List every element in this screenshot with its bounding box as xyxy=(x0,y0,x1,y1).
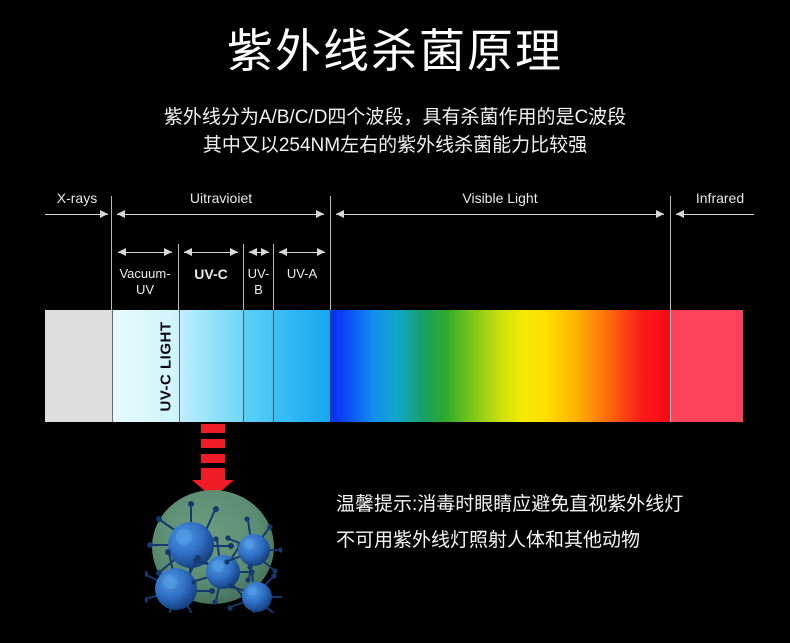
sub-band-line-1: UV- xyxy=(244,266,273,282)
bar-segment-infrared xyxy=(670,310,743,422)
divider-uv-visible xyxy=(330,196,331,312)
warning-line-2: 不可用紫外线灯照射人体和其他动物 xyxy=(336,523,756,559)
bar-divider-uvb-uva xyxy=(273,310,274,422)
arrow-head-right-icon xyxy=(230,248,238,256)
sub-band-label-uvb: UV- B xyxy=(244,266,273,298)
sub-band-label-vacuum-uv: Vacuum- UV xyxy=(112,266,178,298)
arrow-xrays xyxy=(45,210,108,220)
arrow-vacuum-uv xyxy=(118,248,172,258)
warning-line-1: 温馨提示:消毒时眼睛应避免直视紫外线灯 xyxy=(336,487,756,523)
band-label-infrared: Infrared xyxy=(676,190,764,206)
arrow-head-right-icon xyxy=(316,210,324,218)
arrow-head-right-icon xyxy=(100,210,108,218)
bar-divider-uv-visible xyxy=(330,310,331,422)
arrow-dash-segment xyxy=(201,454,225,463)
arrow-head-left-icon xyxy=(676,210,684,218)
arrow-infrared xyxy=(676,210,754,220)
arrow-line xyxy=(676,214,754,215)
arrow-uva xyxy=(279,248,325,258)
warning-text-block: 温馨提示:消毒时眼睛应避免直视紫外线灯 不可用紫外线灯照射人体和其他动物 xyxy=(336,487,756,559)
bar-segment-xrays xyxy=(45,310,112,422)
arrow-uvb xyxy=(249,248,269,258)
page-title: 紫外线杀菌原理 xyxy=(0,24,790,78)
arrow-head-left-icon xyxy=(279,248,287,256)
bar-segment-uvb xyxy=(243,310,273,422)
subtitle-line-2: 其中又以254NM左右的紫外线杀菌能力比较强 xyxy=(0,132,790,160)
arrow-head-left-icon xyxy=(249,248,257,256)
arrow-ultraviolet xyxy=(117,210,324,220)
bar-segment-uvc xyxy=(179,310,243,422)
bar-divider-uvc-uvb xyxy=(243,310,244,422)
band-label-ultraviolet: Uitravioiet xyxy=(117,190,325,206)
sub-band-line-1: Vacuum- xyxy=(112,266,178,282)
arrow-head-right-icon xyxy=(656,210,664,218)
sub-band-line-2: B xyxy=(244,282,273,298)
arrow-uvc xyxy=(184,248,238,258)
bar-divider-visible-infrared xyxy=(670,310,671,422)
arrow-head-right-icon xyxy=(317,248,325,256)
sub-band-line-1: UV-C xyxy=(179,266,243,282)
arrow-head-left-icon xyxy=(184,248,192,256)
sub-band-line-2: UV xyxy=(112,282,178,298)
arrow-head-left-icon xyxy=(336,210,344,218)
arrow-line xyxy=(45,214,108,215)
subtitle-line-1: 紫外线分为A/B/C/D四个波段，具有杀菌作用的是C波段 xyxy=(0,104,790,132)
cell-icon xyxy=(145,487,282,613)
arrow-head-right-icon xyxy=(261,248,269,256)
bar-divider-xray-uv xyxy=(112,310,113,422)
arrow-dash-segment xyxy=(201,424,225,433)
sub-band-label-uva: UV-A xyxy=(274,266,330,282)
bar-divider-vacuumuv-uvc xyxy=(179,310,180,422)
band-label-xrays: X-rays xyxy=(40,190,114,206)
arrow-head-left-icon xyxy=(118,248,126,256)
arrow-head-left-icon xyxy=(117,210,125,218)
arrow-head-right-icon xyxy=(164,248,172,256)
arrow-dash-segment xyxy=(201,439,225,448)
bar-segment-uva xyxy=(273,310,330,422)
sub-band-label-uvc: UV-C xyxy=(179,266,243,282)
arrow-line xyxy=(336,214,664,215)
arrow-line xyxy=(117,214,324,215)
down-arrow-icon xyxy=(192,424,234,496)
divider-visible-infrared xyxy=(670,196,671,312)
spectrum-color-bar xyxy=(45,310,743,422)
subtitle-block: 紫外线分为A/B/C/D四个波段，具有杀菌作用的是C波段 其中又以254NM左右… xyxy=(0,104,790,160)
bar-segment-visible xyxy=(330,310,670,422)
sub-band-line-1: UV-A xyxy=(274,266,330,282)
band-label-visible-light: Visible Light xyxy=(336,190,664,206)
arrow-visible-light xyxy=(336,210,664,220)
bar-segment-vacuum-uv xyxy=(112,310,179,422)
